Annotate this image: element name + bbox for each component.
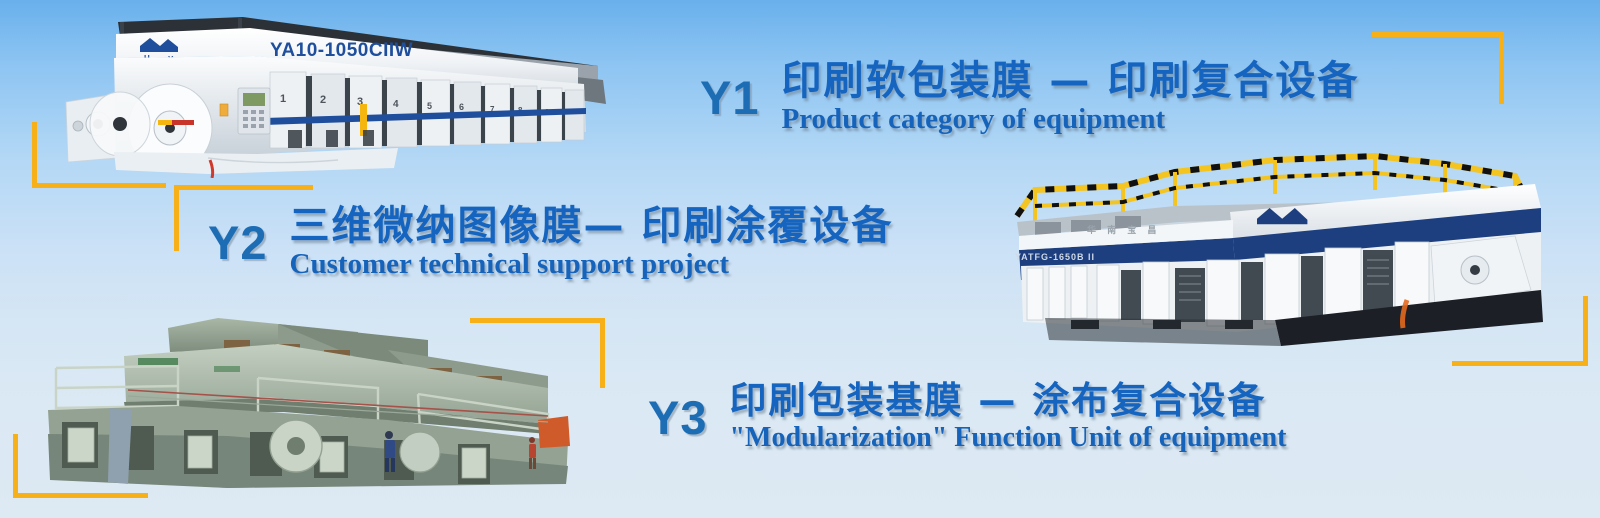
svg-text:YATFG-1650B II: YATFG-1650B II xyxy=(1015,252,1095,262)
svg-text:YA10-1050CIIW: YA10-1050CIIW xyxy=(270,40,413,61)
bracket-upper-left-vertical xyxy=(32,122,37,188)
bracket-bottom-right-vertical xyxy=(1583,296,1588,366)
bracket-y2-vertical xyxy=(174,185,179,251)
svg-text:6: 6 xyxy=(459,102,464,112)
machine-photo-rotogravure-press: H Y YA10-1050CIIW xyxy=(58,8,628,178)
text-group-y2: Y2 三维微纳图像膜— 印刷涂覆设备 Customer technical su… xyxy=(208,205,893,279)
svg-text:4: 4 xyxy=(393,99,399,110)
machine-photo-coating-laminating-machine: 华 南 宝 昌 YATFG-1650B II xyxy=(975,150,1545,355)
y3-label: Y3 xyxy=(648,394,708,441)
text-group-y3: Y3 印刷包装基膜 — 涂布复合设备 "Modularization" Func… xyxy=(648,382,1286,452)
svg-text:华 南 宝 昌: 华 南 宝 昌 xyxy=(1087,224,1160,236)
bracket-upper-left-horizontal xyxy=(32,183,166,188)
y3-chinese-heading: 印刷包装基膜 — 涂布复合设备 xyxy=(730,382,1287,421)
y3-english-subheading: "Modularization" Function Unit of equipm… xyxy=(730,423,1287,452)
y1-chinese-heading: 印刷软包装膜 — 印刷复合设备 xyxy=(782,60,1360,102)
y1-label: Y1 xyxy=(700,74,760,121)
y2-label: Y2 xyxy=(208,219,268,266)
y2-chinese-heading: 三维微纳图像膜— 印刷涂覆设备 xyxy=(290,205,894,247)
bracket-top-right-vertical xyxy=(1499,32,1504,104)
bracket-bottom-left-vertical xyxy=(13,434,18,498)
y1-lines: 印刷软包装膜 — 印刷复合设备 Product category of equi… xyxy=(782,60,1360,134)
bracket-bottom-left-horizontal xyxy=(13,493,148,498)
y2-lines: 三维微纳图像膜— 印刷涂覆设备 Customer technical suppo… xyxy=(290,205,894,279)
text-group-y1: Y1 印刷软包装膜 — 印刷复合设备 Product category of e… xyxy=(700,60,1359,134)
bracket-y3-vertical xyxy=(600,318,605,388)
bracket-top-right-horizontal xyxy=(1372,32,1504,37)
bracket-y3-horizontal xyxy=(470,318,605,323)
bracket-y2-horizontal xyxy=(174,185,313,190)
machine-photo-coating-base-film-line xyxy=(28,306,573,488)
y3-lines: 印刷包装基膜 — 涂布复合设备 "Modularization" Functio… xyxy=(730,382,1287,452)
bracket-bottom-right-horizontal xyxy=(1452,361,1588,366)
product-banner: H Y YA10-1050CIIW xyxy=(0,0,1600,518)
y1-english-subheading: Product category of equipment xyxy=(782,104,1360,134)
svg-text:2: 2 xyxy=(320,94,326,106)
svg-text:5: 5 xyxy=(427,101,432,111)
y2-english-subheading: Customer technical support project xyxy=(290,249,894,279)
svg-text:1: 1 xyxy=(280,93,286,105)
